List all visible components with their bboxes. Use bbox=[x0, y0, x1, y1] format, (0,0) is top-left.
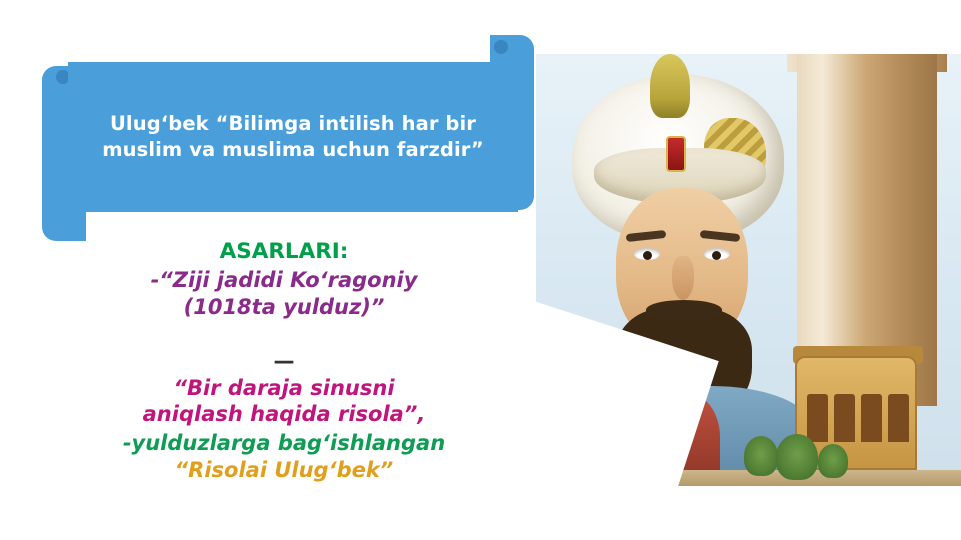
pupil-right bbox=[712, 251, 721, 260]
portrait-image bbox=[536, 54, 961, 486]
tower-windows bbox=[807, 394, 909, 442]
ribbon-notch-right-icon bbox=[494, 40, 508, 54]
work-item-2: — “Bir daraja sinusni aniqlash haqida ri… bbox=[34, 322, 534, 428]
works-list: ASARLARI: -“Ziji jadidi Ko‘ragoniy (1018… bbox=[34, 238, 534, 484]
tower-window bbox=[861, 394, 882, 442]
turban-jewel-icon bbox=[666, 136, 686, 172]
photo-corner-cut bbox=[536, 366, 656, 486]
tree-icon bbox=[776, 434, 818, 480]
work-item-1: -“Ziji jadidi Ko‘ragoniy (1018ta yulduz)… bbox=[34, 267, 534, 320]
banner-title-text: Ulug‘bek “Bilimga intilish har bir musli… bbox=[68, 111, 518, 162]
works-heading: ASARLARI: bbox=[34, 238, 534, 265]
work-item-2-dash: — bbox=[274, 349, 295, 373]
tree-icon bbox=[818, 444, 848, 478]
banner-box: Ulug‘bek “Bilimga intilish har bir musli… bbox=[68, 62, 518, 212]
work-item-2-text: “Bir daraja sinusni aniqlash haqida riso… bbox=[143, 376, 426, 426]
tower-window bbox=[807, 394, 828, 442]
slide-root: Ulug‘bek “Bilimga intilish har bir musli… bbox=[0, 0, 961, 540]
tower-window bbox=[888, 394, 909, 442]
work-item-3: -yulduzlarga bag‘ishlangan bbox=[34, 430, 534, 456]
nose bbox=[672, 256, 694, 300]
turban-plume-icon bbox=[650, 54, 690, 118]
work-item-3-title: “Risolai Ulug‘bek” bbox=[34, 457, 534, 483]
tree-icon bbox=[744, 436, 778, 476]
tower-window bbox=[834, 394, 855, 442]
pupil-left bbox=[643, 251, 652, 260]
moustache bbox=[646, 300, 722, 320]
title-banner: Ulug‘bek “Bilimga intilish har bir musli… bbox=[42, 35, 534, 225]
